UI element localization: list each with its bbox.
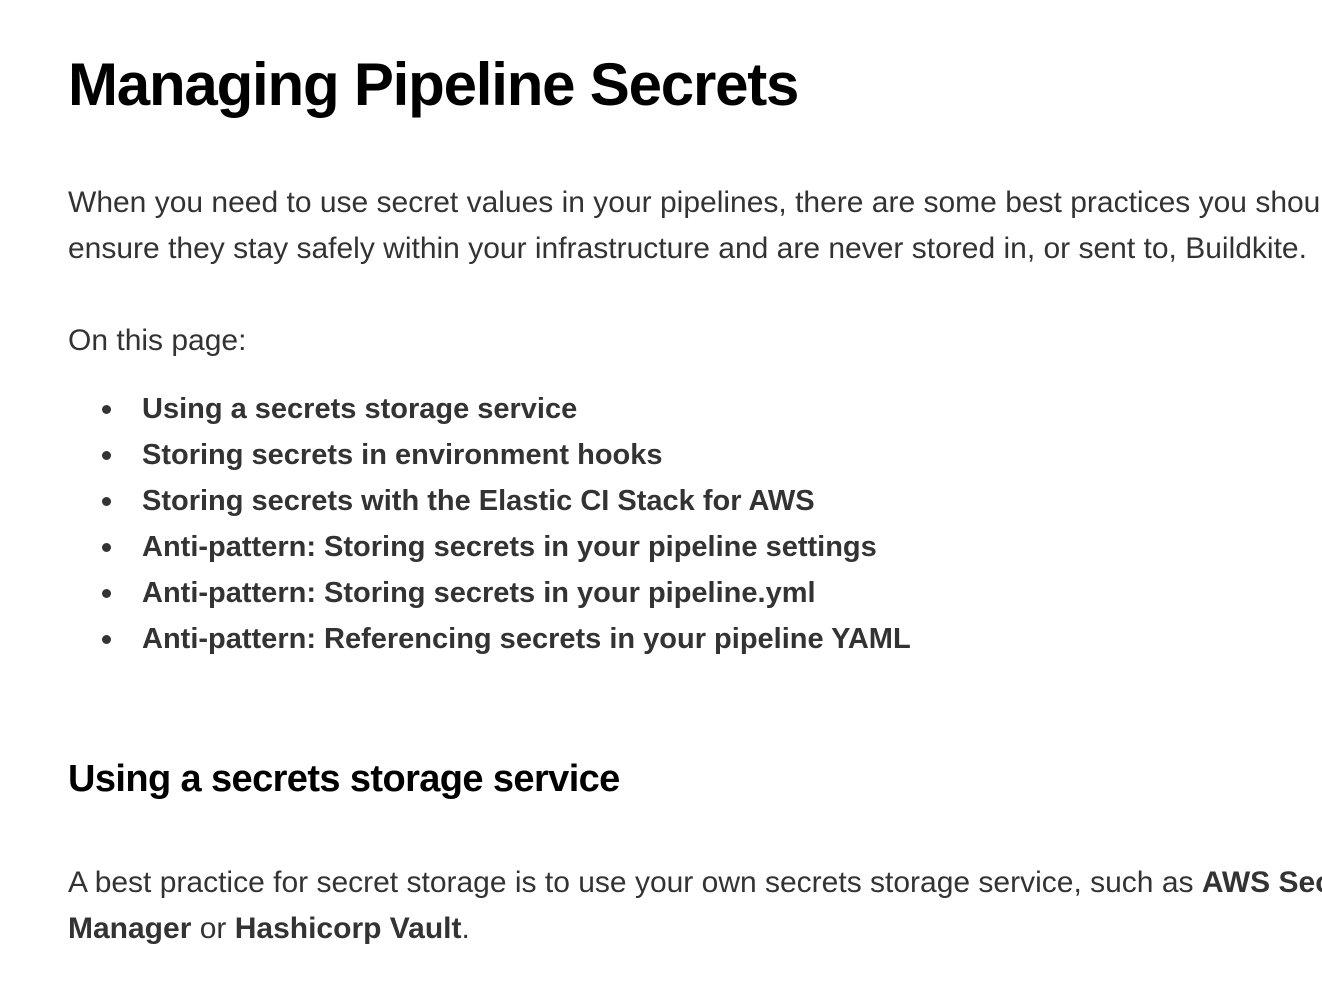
bullet-icon bbox=[102, 635, 111, 644]
bullet-icon bbox=[102, 589, 111, 598]
list-item[interactable]: Anti-pattern: Referencing secrets in you… bbox=[68, 616, 1322, 662]
paragraph-lead-text: A best practice for secret storage is to… bbox=[68, 866, 1202, 899]
on-this-page-label: On this page: bbox=[68, 318, 1322, 364]
bullet-icon bbox=[102, 543, 111, 552]
toc-link[interactable]: Anti-pattern: Storing secrets in your pi… bbox=[142, 531, 877, 563]
paragraph-end-text: . bbox=[461, 912, 469, 945]
page-title: Managing Pipeline Secrets bbox=[68, 52, 1322, 118]
document-content: Managing Pipeline Secrets When you need … bbox=[68, 0, 1322, 952]
intro-paragraph: When you need to use secret values in yo… bbox=[68, 180, 1322, 272]
hashicorp-vault-link[interactable]: Hashicorp Vault bbox=[235, 912, 462, 945]
bullet-icon bbox=[102, 405, 111, 414]
list-item[interactable]: Anti-pattern: Storing secrets in your pi… bbox=[68, 570, 1322, 616]
toc-link[interactable]: Anti-pattern: Referencing secrets in you… bbox=[142, 623, 911, 655]
bullet-icon bbox=[102, 497, 111, 506]
list-item[interactable]: Anti-pattern: Storing secrets in your pi… bbox=[68, 524, 1322, 570]
list-item[interactable]: Storing secrets with the Elastic CI Stac… bbox=[68, 478, 1322, 524]
toc-link[interactable]: Using a secrets storage service bbox=[142, 393, 577, 425]
list-item[interactable]: Using a secrets storage service bbox=[68, 386, 1322, 432]
bullet-icon bbox=[102, 451, 111, 460]
toc-link[interactable]: Storing secrets in environment hooks bbox=[142, 439, 663, 471]
section-heading-using-a-secrets-storage-service: Using a secrets storage service bbox=[68, 758, 1322, 802]
section-paragraph: A best practice for secret storage is to… bbox=[68, 860, 1322, 952]
paragraph-conjunction-text: or bbox=[191, 912, 234, 945]
list-item[interactable]: Storing secrets in environment hooks bbox=[68, 432, 1322, 478]
toc-link[interactable]: Anti-pattern: Storing secrets in your pi… bbox=[142, 577, 816, 609]
table-of-contents-list: Using a secrets storage service Storing … bbox=[68, 386, 1322, 662]
toc-link[interactable]: Storing secrets with the Elastic CI Stac… bbox=[142, 485, 815, 517]
